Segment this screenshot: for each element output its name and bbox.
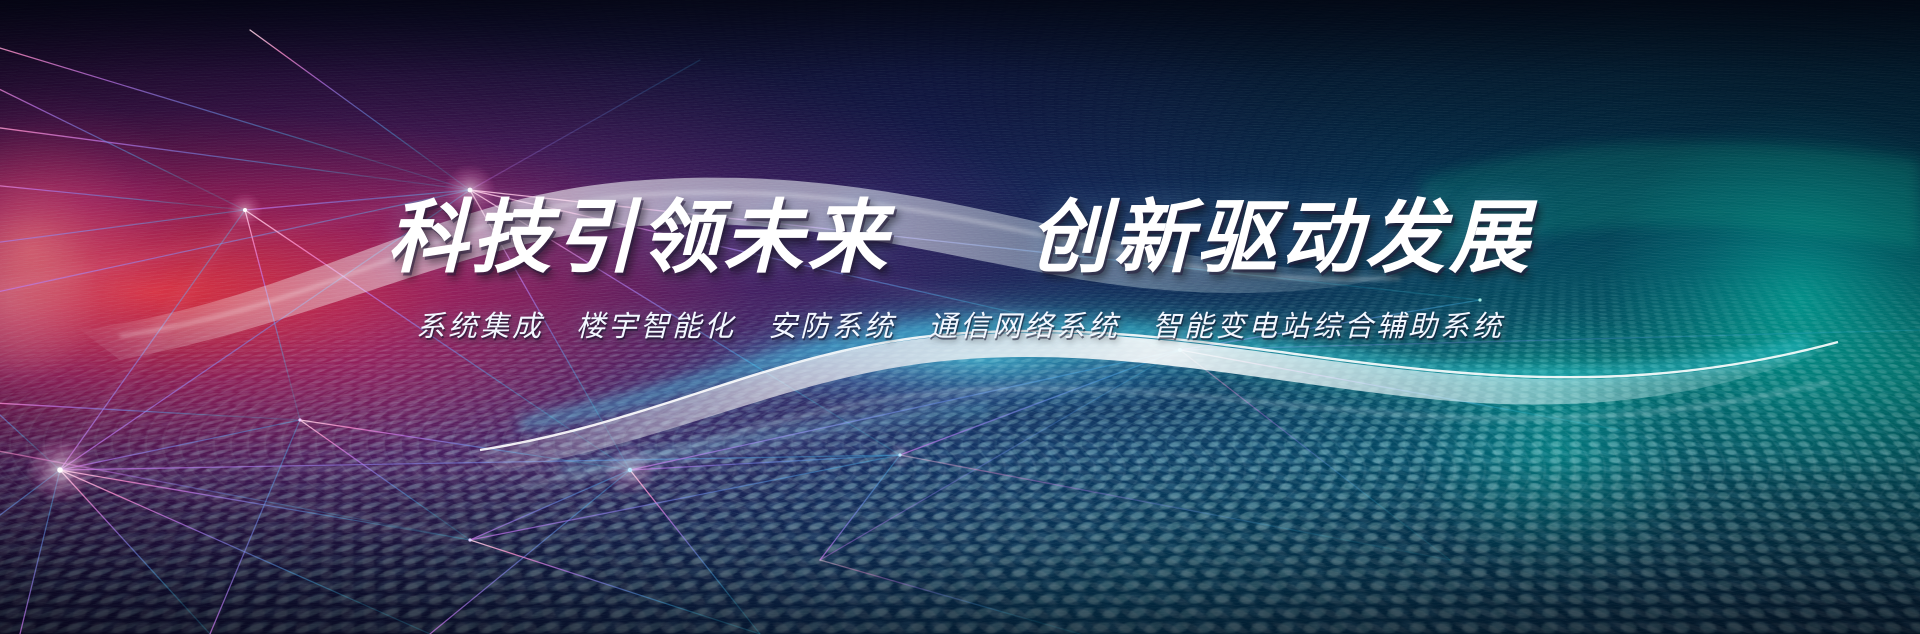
flowing-silk-ribbon-main <box>470 326 1840 486</box>
banner-subheadline: 系统集成 楼宇智能化 安防系统 通信网络系统 智能变电站综合辅助系统 <box>0 303 1920 345</box>
headline-part-2: 创新驱动发展 <box>1029 191 1533 284</box>
banner-headline: 科技引领未来 创新驱动发展 <box>0 196 1920 281</box>
technology-hero-banner: 科技引领未来 创新驱动发展 系统集成 楼宇智能化 安防系统 通信网络系统 智能变… <box>0 0 1920 634</box>
headline-part-1: 科技引领未来 <box>387 191 891 284</box>
cyan-light-streak <box>560 410 990 470</box>
banner-text-block: 科技引领未来 创新驱动发展 系统集成 楼宇智能化 安防系统 通信网络系统 智能变… <box>0 196 1920 345</box>
